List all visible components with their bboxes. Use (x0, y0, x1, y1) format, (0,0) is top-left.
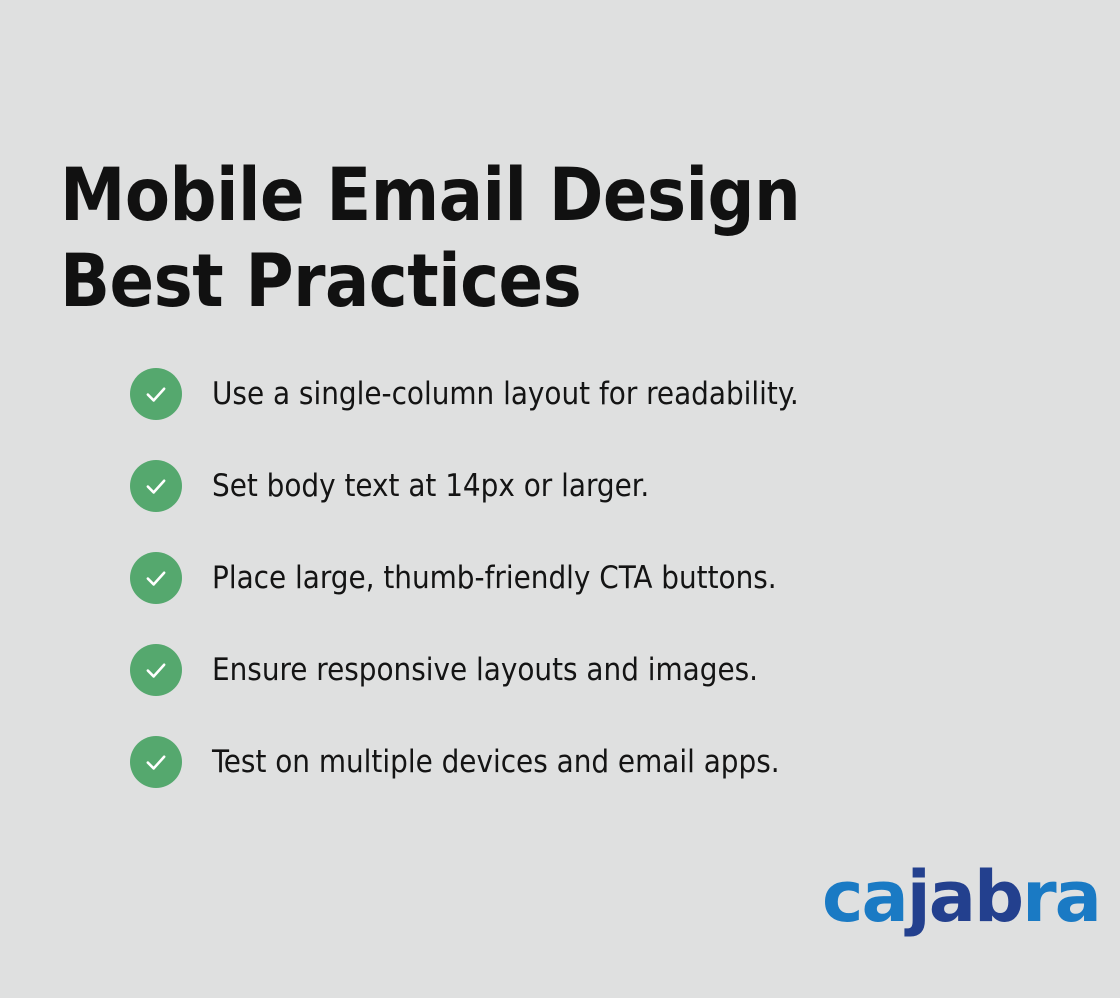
list-item: Test on multiple devices and email apps. (130, 736, 1030, 788)
list-item-label: Place large, thumb-friendly CTA buttons. (212, 561, 777, 595)
slide-canvas: Mobile Email Design Best Practices Use a… (0, 0, 1120, 998)
page-title: Mobile Email Design Best Practices (60, 153, 940, 325)
checklist: Use a single-column layout for readabili… (130, 368, 1030, 788)
check-circle-icon (130, 736, 182, 788)
check-circle-icon (130, 644, 182, 696)
list-item: Use a single-column layout for readabili… (130, 368, 1030, 420)
logo-segment-middle: jab (907, 856, 1022, 938)
list-item-label: Set body text at 14px or larger. (212, 469, 649, 503)
list-item-label: Use a single-column layout for readabili… (212, 377, 799, 411)
list-item: Place large, thumb-friendly CTA buttons. (130, 552, 1030, 604)
list-item-label: Ensure responsive layouts and images. (212, 653, 758, 687)
list-item: Ensure responsive layouts and images. (130, 644, 1030, 696)
list-item: Set body text at 14px or larger. (130, 460, 1030, 512)
logo-segment-last: ra (1022, 856, 1100, 938)
check-circle-icon (130, 460, 182, 512)
cajabra-logo: cajabra (822, 862, 1100, 932)
logo-segment-first: ca (822, 856, 907, 938)
list-item-label: Test on multiple devices and email apps. (212, 745, 780, 779)
check-circle-icon (130, 368, 182, 420)
check-circle-icon (130, 552, 182, 604)
